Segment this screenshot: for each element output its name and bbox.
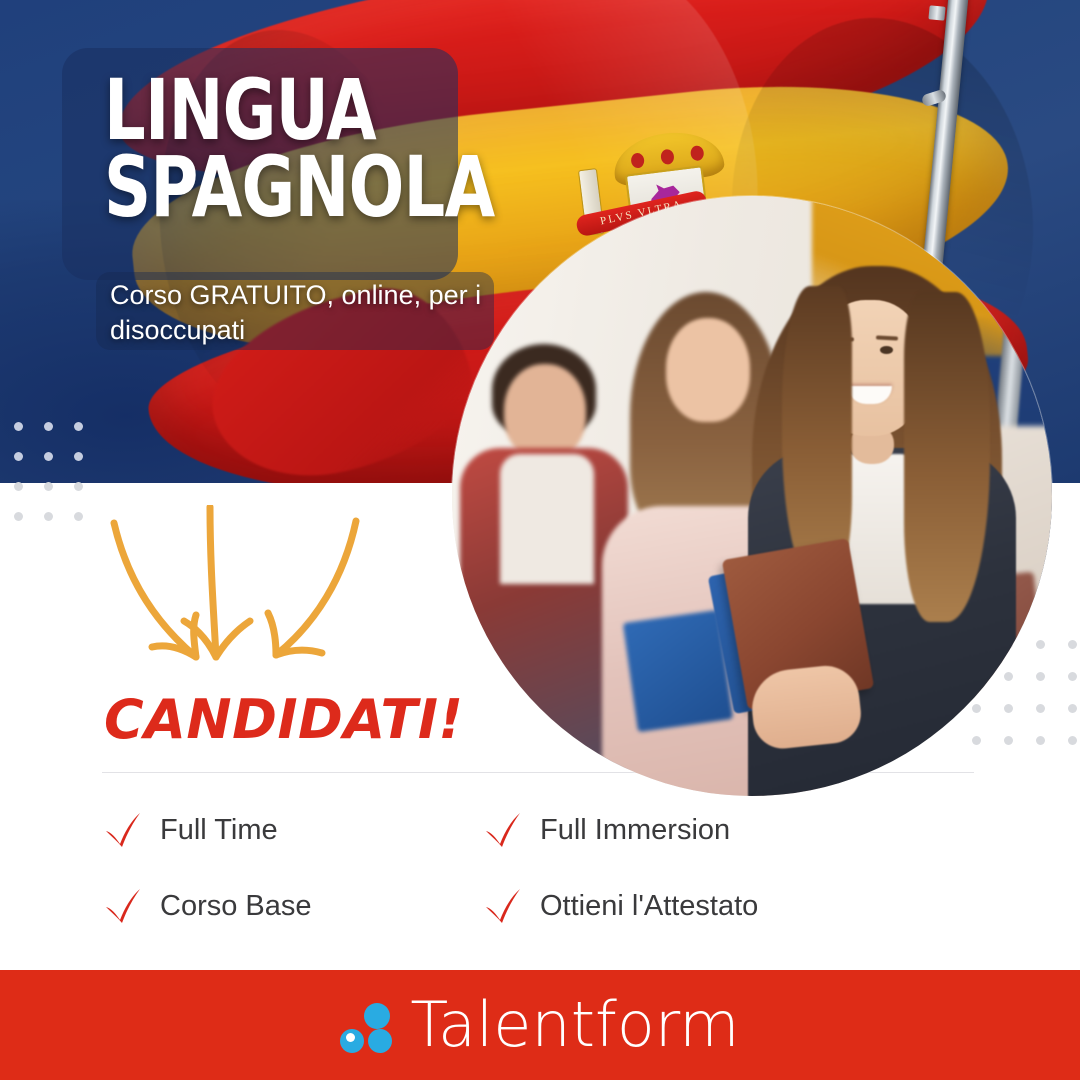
subtitle: Corso GRATUITO, online, per i disoccupat… — [110, 278, 495, 347]
feature-label: Full Immersion — [540, 814, 730, 847]
dot — [1068, 672, 1077, 681]
feature-label: Full Time — [160, 814, 278, 847]
person-face — [666, 318, 750, 422]
dot — [74, 452, 83, 461]
list-item: Full Immersion — [482, 811, 962, 849]
person-shirt — [500, 454, 594, 584]
brand-logo[interactable]: Talentform — [340, 994, 739, 1056]
downward-arrows-icon — [110, 505, 420, 690]
dot — [74, 482, 83, 491]
dot — [44, 452, 53, 461]
crown-jewel — [690, 145, 705, 161]
person-face — [504, 364, 586, 460]
logo-dot — [364, 1003, 390, 1029]
check-icon — [482, 811, 522, 849]
dot-grid-left — [14, 422, 104, 542]
feature-label: Ottieni l'Attestato — [540, 890, 758, 923]
crown-jewel — [630, 152, 645, 168]
dot — [14, 512, 23, 521]
eye — [880, 346, 893, 354]
check-icon — [482, 887, 522, 925]
feature-label: Corso Base — [160, 890, 312, 923]
dot — [1068, 736, 1077, 745]
dot — [1068, 704, 1077, 713]
flag-pole-cap — [928, 5, 945, 20]
check-icon — [102, 811, 142, 849]
logo-dot — [368, 1029, 392, 1053]
dot — [44, 512, 53, 521]
dot — [1068, 640, 1077, 649]
dot — [44, 482, 53, 491]
footer-bar: Talentform — [0, 970, 1080, 1080]
check-icon — [102, 887, 142, 925]
brand-name: Talentform — [410, 994, 739, 1056]
crown-jewel — [660, 149, 675, 165]
promo-poster: PLVS VLTRA LINGUA SPAGNOLA Corso GRATUIT… — [0, 0, 1080, 1080]
dot — [74, 422, 83, 431]
feature-list: Full Time Full Immersion Corso Base Otti… — [102, 792, 982, 944]
talentform-dots-icon — [340, 997, 396, 1053]
students-photo — [452, 196, 1052, 796]
list-item: Corso Base — [102, 887, 482, 925]
list-item: Full Time — [102, 811, 482, 849]
cta-heading: CANDIDATI! — [104, 688, 464, 751]
list-item: Ottieni l'Attestato — [482, 887, 962, 925]
dot — [74, 512, 83, 521]
dot — [44, 422, 53, 431]
book — [623, 610, 733, 732]
dot — [14, 452, 23, 461]
person-hair — [904, 292, 990, 622]
dot — [14, 482, 23, 491]
dot — [14, 422, 23, 431]
